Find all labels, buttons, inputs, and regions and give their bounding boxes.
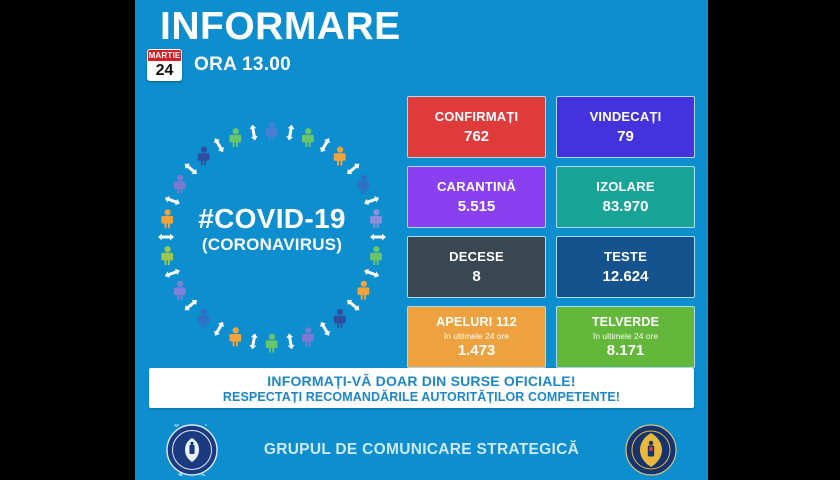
- stat-card: DECESE8: [407, 236, 546, 298]
- stat-card-label: TELVERDE: [592, 314, 659, 331]
- person-icon: [302, 128, 314, 147]
- person-icon: [266, 334, 278, 353]
- stat-card: CARANTINĂ5.515: [407, 166, 546, 228]
- stat-card-sublabel: în ultimele 24 ore: [444, 331, 509, 341]
- stat-card-label: TESTE: [604, 248, 647, 265]
- official-sources-banner: INFORMAȚI-VĂ DOAR DIN SURSE OFICIALE! RE…: [149, 368, 694, 408]
- infographic-stage: INFORMARE MARTIE 24 ORA 13.00 #COVID-19 …: [135, 0, 708, 480]
- person-icon: [358, 281, 370, 300]
- stat-card-label: CARANTINĂ: [437, 178, 516, 195]
- person-icon: [198, 309, 210, 328]
- double-arrow-icon: [158, 234, 174, 241]
- page-title: INFORMARE: [160, 4, 401, 50]
- person-icon: [161, 209, 173, 228]
- double-arrow-icon: [212, 320, 226, 337]
- stat-card-value: 8.171: [607, 341, 645, 361]
- stat-card-value: 79: [617, 127, 634, 147]
- stat-card-label: DECESE: [449, 248, 504, 265]
- covid-circle-graphic: #COVID-19 (CORONAVIRUS): [147, 108, 397, 366]
- stat-card: VINDECAȚI79: [556, 96, 695, 158]
- double-arrow-icon: [363, 195, 380, 207]
- calendar-month-label: MARTIE: [148, 50, 181, 61]
- guvernul-romaniei-emblem-icon: GUVERNUL ROMÂNIEI: [166, 424, 218, 476]
- double-arrow-icon: [164, 267, 181, 279]
- person-icon: [334, 309, 346, 328]
- calendar-icon: MARTIE 24: [147, 49, 182, 81]
- stat-card: TELVERDEîn ultimele 24 ore8.171: [556, 306, 695, 368]
- double-arrow-icon: [212, 137, 226, 154]
- person-icon: [198, 147, 210, 166]
- person-icon: [174, 281, 186, 300]
- double-arrow-icon: [318, 320, 332, 337]
- double-arrow-icon: [164, 195, 181, 207]
- person-icon: [174, 175, 186, 194]
- hour-label: ORA 13.00: [194, 54, 291, 76]
- stat-card-label: VINDECAȚI: [590, 108, 662, 125]
- double-arrow-icon: [286, 124, 295, 141]
- person-icon: [161, 246, 173, 265]
- stat-card-value: 8: [472, 267, 480, 287]
- person-icon: [370, 246, 382, 265]
- stat-card: CONFIRMAȚI762: [407, 96, 546, 158]
- person-icon: [358, 175, 370, 194]
- person-icon: [302, 327, 314, 346]
- statistics-grid: CONFIRMAȚI762VINDECAȚI79CARANTINĂ5.515IZ…: [407, 96, 695, 368]
- date-time-row: MARTIE 24 ORA 13.00: [147, 49, 291, 81]
- stat-card-value: 5.515: [458, 197, 496, 217]
- double-arrow-icon: [345, 161, 362, 176]
- stat-card: IZOLARE83.970: [556, 166, 695, 228]
- stat-card: TESTE12.624: [556, 236, 695, 298]
- double-arrow-icon: [363, 267, 380, 279]
- stat-card-value: 12.624: [603, 267, 649, 287]
- stat-card-sublabel: în ultimele 24 ore: [593, 331, 658, 341]
- screenshot-frame: INFORMARE MARTIE 24 ORA 13.00 #COVID-19 …: [0, 0, 840, 480]
- footer-label: GRUPUL DE COMUNICARE STRATEGICĂ: [264, 441, 579, 459]
- double-arrow-icon: [286, 333, 295, 350]
- ministerul-afacerilor-interne-emblem-icon: [625, 424, 677, 476]
- calendar-day-label: 24: [148, 61, 181, 80]
- stat-card: APELURI 112în ultimele 24 ore1.473: [407, 306, 546, 368]
- person-icon: [370, 209, 382, 228]
- stat-card-value: 83.970: [603, 197, 649, 217]
- stat-card-value: 1.473: [458, 341, 496, 361]
- person-icon: [266, 122, 278, 141]
- double-arrow-icon: [370, 234, 386, 241]
- person-icon: [334, 147, 346, 166]
- footer: GUVERNUL ROMÂNIEI GRUPUL DE COMUNICARE S…: [135, 420, 708, 480]
- banner-line-1: INFORMAȚI-VĂ DOAR DIN SURSE OFICIALE!: [267, 372, 575, 390]
- stat-card-label: CONFIRMAȚI: [435, 108, 519, 125]
- person-icon: [229, 128, 241, 147]
- stat-card-label: IZOLARE: [596, 178, 654, 195]
- double-arrow-icon: [318, 137, 332, 154]
- double-arrow-icon: [249, 333, 258, 350]
- double-arrow-icon: [182, 297, 199, 312]
- stat-card-label: APELURI 112: [436, 314, 517, 331]
- double-arrow-icon: [182, 161, 199, 176]
- stat-card-value: 762: [464, 127, 489, 147]
- banner-line-2: RESPECTAȚI RECOMANDĂRILE AUTORITĂȚILOR C…: [223, 390, 620, 405]
- people-ring-icon: [147, 108, 397, 366]
- double-arrow-icon: [345, 297, 362, 312]
- double-arrow-icon: [249, 124, 258, 141]
- person-icon: [229, 327, 241, 346]
